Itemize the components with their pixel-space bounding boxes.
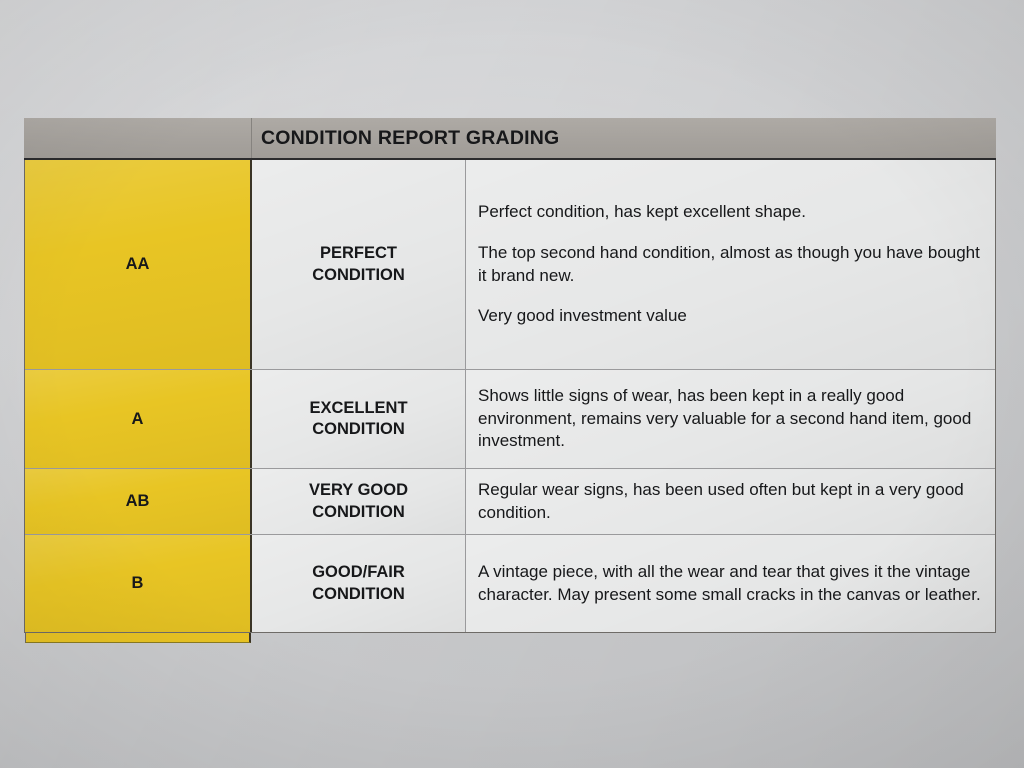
condition-label-cell: EXCELLENT CONDITION [252, 370, 466, 468]
grade-cell: AA [25, 160, 252, 369]
description-cell: Shows little signs of wear, has been kep… [466, 370, 995, 468]
condition-report-grading-table: CONDITION REPORT GRADING AA PERFECT COND… [24, 118, 996, 633]
condition-label-line-2: CONDITION [312, 584, 405, 605]
condition-label-line-1: PERFECT [320, 243, 397, 264]
description-paragraph: The top second hand condition, almost as… [478, 242, 981, 287]
condition-label-line-2: CONDITION [312, 502, 405, 523]
grade-cell: AB [25, 469, 252, 534]
table-row: AB VERY GOOD CONDITION Regular wear sign… [25, 469, 995, 535]
description-paragraph: Shows little signs of wear, has been kep… [478, 385, 981, 453]
grade-cell: B [25, 535, 252, 632]
condition-label-line-1: VERY GOOD [309, 480, 408, 501]
description-cell: A vintage piece, with all the wear and t… [466, 535, 995, 632]
condition-label-cell: VERY GOOD CONDITION [252, 469, 466, 534]
condition-label-cell: PERFECT CONDITION [252, 160, 466, 369]
description-paragraph: Very good investment value [478, 305, 981, 328]
grade-column-overhang [25, 633, 251, 643]
table-row: A EXCELLENT CONDITION Shows little signs… [25, 370, 995, 469]
description-cell: Regular wear signs, has been used often … [466, 469, 995, 534]
description-paragraph: Perfect condition, has kept excellent sh… [478, 201, 981, 224]
description-paragraph: A vintage piece, with all the wear and t… [478, 561, 981, 606]
description-cell: Perfect condition, has kept excellent sh… [466, 160, 995, 369]
condition-label-line-1: GOOD/FAIR [312, 562, 405, 583]
table-title: CONDITION REPORT GRADING [252, 118, 996, 158]
description-paragraph: Regular wear signs, has been used often … [478, 479, 981, 524]
condition-label-line-2: CONDITION [312, 265, 405, 286]
table-header: CONDITION REPORT GRADING [24, 118, 996, 160]
grade-cell: A [25, 370, 252, 468]
condition-label-line-1: EXCELLENT [309, 398, 407, 419]
table-body: AA PERFECT CONDITION Perfect condition, … [24, 160, 996, 633]
table-row: B GOOD/FAIR CONDITION A vintage piece, w… [25, 535, 995, 632]
table-header-left-spacer [24, 118, 252, 158]
table-row: AA PERFECT CONDITION Perfect condition, … [25, 160, 995, 370]
condition-label-cell: GOOD/FAIR CONDITION [252, 535, 466, 632]
condition-label-line-2: CONDITION [312, 419, 405, 440]
